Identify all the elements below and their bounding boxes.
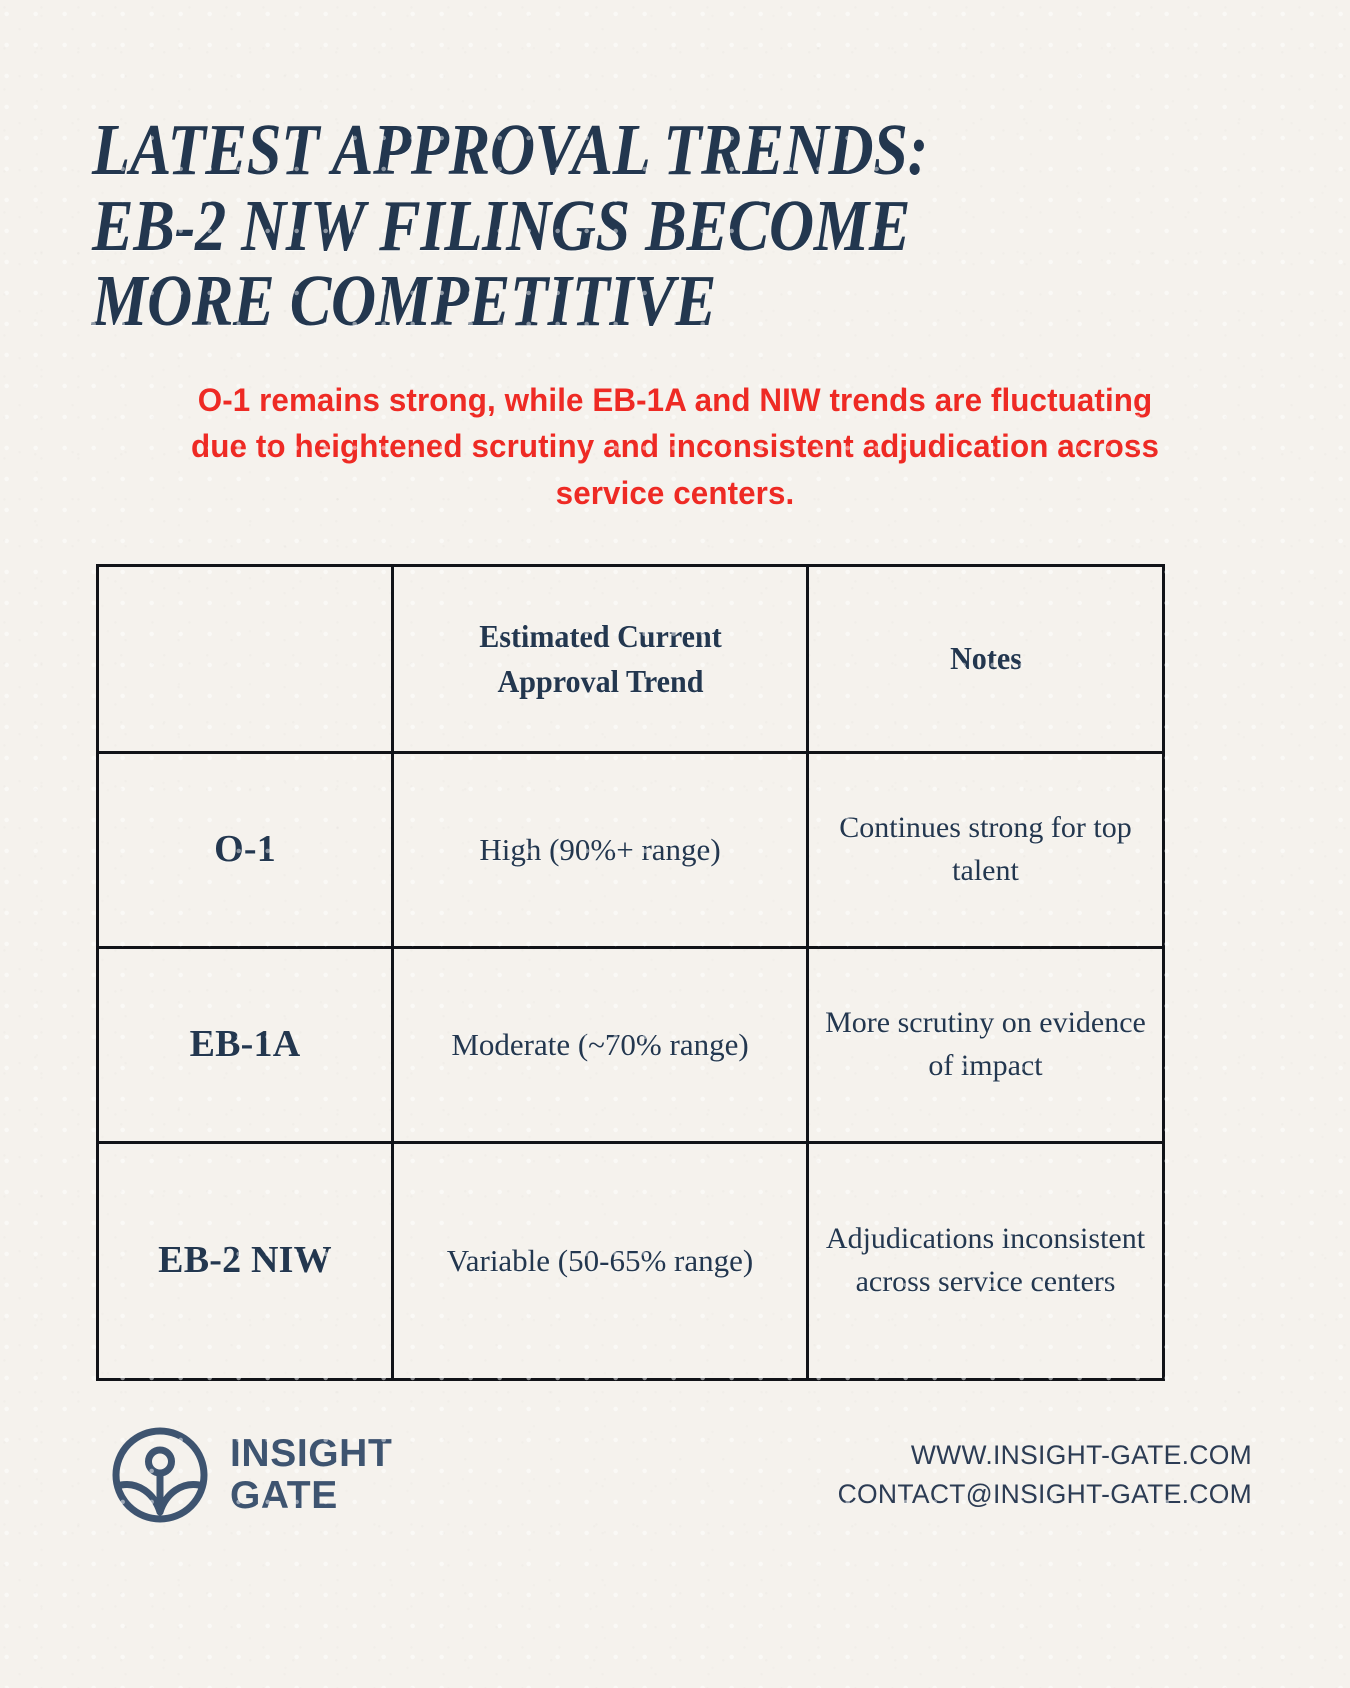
row-trend: High (90%+ range) [393,753,808,948]
page-subtitle: O-1 remains strong, while EB-1A and NIW … [188,377,1163,516]
table-header: Estimated Current Approval Trend Notes [98,566,1164,753]
website-link[interactable]: WWW.INSIGHT-GATE.COM [838,1436,1252,1475]
column-header-trend: Estimated Current Approval Trend [405,566,795,753]
table-body: O-1 High (90%+ range) Continues strong f… [98,753,1164,1380]
row-category: O-1 [98,753,393,948]
row-notes: Adjudications inconsistent across servic… [808,1143,1164,1380]
contact-block: WWW.INSIGHT-GATE.COM CONTACT@INSIGHT-GAT… [838,1436,1252,1514]
brand-lockup: INSIGHT GATE [108,1423,392,1527]
brand-name: INSIGHT GATE [230,1433,392,1516]
approval-trends-table: Estimated Current Approval Trend Notes O… [96,564,1165,1381]
column-header-notes: Notes [818,566,1153,753]
email-link[interactable]: CONTACT@INSIGHT-GATE.COM [838,1475,1252,1514]
table-row: EB-1A Moderate (~70% range) More scrutin… [98,948,1164,1143]
page-title: LATEST APPROVAL TRENDS: EB-2 NIW FILINGS… [92,0,1089,339]
row-notes: Continues strong for top talent [808,753,1164,948]
table-row: EB-2 NIW Variable (50-65% range) Adjudic… [98,1143,1164,1380]
table-row: O-1 High (90%+ range) Continues strong f… [98,753,1164,948]
column-header-category [106,566,383,753]
row-category: EB-2 NIW [98,1143,393,1380]
row-trend: Variable (50-65% range) [393,1143,808,1380]
row-notes: More scrutiny on evidence of impact [808,948,1164,1143]
sprout-in-circle-icon [108,1423,212,1527]
footer: INSIGHT GATE WWW.INSIGHT-GATE.COM CONTAC… [92,1423,1258,1527]
row-category: EB-1A [98,948,393,1143]
table-header-row: Estimated Current Approval Trend Notes [98,566,1164,753]
row-trend: Moderate (~70% range) [393,948,808,1143]
infographic-page: LATEST APPROVAL TRENDS: EB-2 NIW FILINGS… [0,0,1350,1688]
